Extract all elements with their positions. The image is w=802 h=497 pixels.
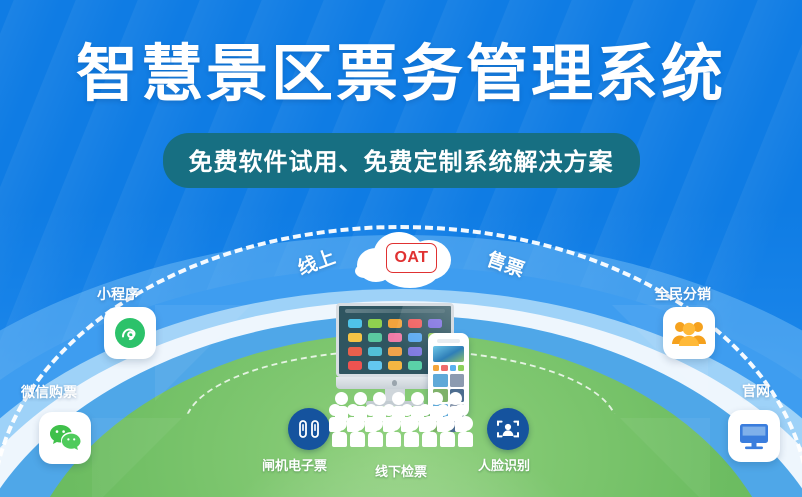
cloud-shape: OAT	[355, 230, 465, 292]
person-head	[401, 404, 413, 416]
offline-icon-face[interactable]	[487, 408, 529, 450]
desktop-app-icon	[348, 361, 362, 370]
person-body	[404, 432, 419, 447]
person-head	[419, 404, 431, 416]
wechat-icon	[48, 423, 82, 453]
channel-tile-distribution[interactable]	[663, 307, 715, 359]
page-title: 智慧景区票务管理系统	[0, 44, 802, 106]
person-silhouette	[350, 416, 365, 447]
oat-badge: OAT	[386, 243, 437, 273]
people-group-icon	[671, 318, 707, 348]
face-scan-icon	[495, 417, 521, 441]
person-silhouette	[386, 416, 401, 447]
channel-tile-mini-program[interactable]	[104, 307, 156, 359]
person-head	[365, 404, 377, 416]
person-silhouette	[458, 416, 473, 447]
desktop-app-icon	[348, 347, 362, 356]
person-head	[332, 416, 347, 431]
phone-icon-row	[433, 365, 464, 371]
turnstile-gate-icon	[296, 418, 322, 440]
person-head	[404, 416, 419, 431]
monitor-icon	[737, 421, 771, 451]
desktop-app-icon	[368, 347, 382, 356]
person-head	[368, 416, 383, 431]
person-head	[422, 416, 437, 431]
cloud-puff	[355, 264, 375, 278]
person-body	[386, 432, 401, 447]
phone-app-icon	[458, 365, 464, 371]
channel-tile-official-site[interactable]	[728, 410, 780, 462]
phone-banner	[433, 346, 464, 362]
subtitle-pill: 免费软件试用、免费定制系统解决方案	[163, 133, 640, 188]
desktop-app-icon	[348, 319, 362, 328]
phone-app-icon	[433, 365, 439, 371]
subtitle-row: 免费软件试用、免费定制系统解决方案	[0, 133, 802, 188]
tile-shadow	[620, 418, 710, 497]
person-silhouette	[368, 416, 383, 447]
person-silhouette	[404, 416, 419, 447]
crowd-icon	[329, 392, 479, 454]
desktop-app-icon	[368, 319, 382, 328]
person-head	[437, 404, 449, 416]
person-silhouette	[440, 416, 455, 447]
offline-label-gate: 闸机电子票	[262, 455, 327, 474]
phone-header	[437, 339, 460, 343]
person-head	[329, 404, 341, 416]
channel-label-wechat-ticket: 微信购票	[21, 382, 77, 402]
person-body	[440, 432, 455, 447]
phone-app-icon	[441, 365, 447, 371]
person-head	[386, 416, 401, 431]
person-silhouette	[332, 416, 347, 447]
desktop-app-icon	[368, 361, 382, 370]
person-head	[440, 416, 455, 431]
offline-label-face: 人脸识别	[478, 455, 530, 474]
person-body	[332, 432, 347, 447]
person-silhouette	[422, 416, 437, 447]
channel-tile-wechat-ticket[interactable]	[39, 412, 91, 464]
offline-icon-gate[interactable]	[288, 408, 330, 450]
tile-shadow	[155, 305, 251, 401]
desktop-app-icon	[348, 333, 362, 342]
poster-banner: 智慧景区票务管理系统 免费软件试用、免费定制系统解决方案 OAT 线上 售票 小…	[0, 0, 802, 497]
channel-label-distribution: 全民分销	[655, 284, 711, 304]
phone-content-card	[450, 374, 465, 387]
channel-label-official-site: 官网	[742, 381, 770, 401]
person-head	[455, 404, 467, 416]
phone-app-icon	[450, 365, 456, 371]
person-body	[422, 432, 437, 447]
offline-label-check: 线下检票	[375, 461, 427, 480]
phone-content-card	[433, 374, 448, 387]
person-body	[368, 432, 383, 447]
tile-shadow	[92, 418, 182, 497]
person-head	[383, 404, 395, 416]
person-head	[458, 416, 473, 431]
person-body	[458, 432, 473, 447]
desktop-app-icon	[368, 333, 382, 342]
person-body	[350, 432, 365, 447]
channel-label-mini-program: 小程序	[97, 284, 139, 304]
person-head	[347, 404, 359, 416]
wechat-mini-program-icon	[113, 316, 147, 350]
person-head	[350, 416, 365, 431]
